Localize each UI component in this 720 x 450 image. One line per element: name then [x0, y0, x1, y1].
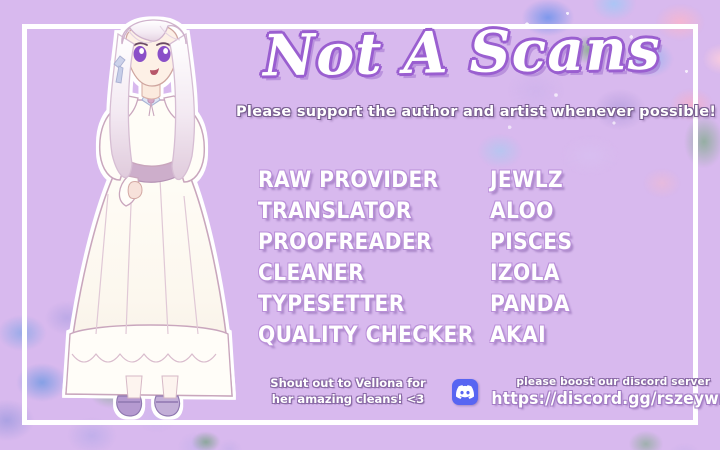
character-illustration [56, 4, 246, 434]
credit-role-label: Proofreader [258, 230, 471, 255]
credit-row: Raw Provider Jewlz [258, 168, 678, 199]
discord-text-block: please boost our discord server https://… [485, 376, 720, 408]
credit-row: Translator Aloo [258, 199, 678, 230]
discord-invite-block[interactable]: please boost our discord server https://… [452, 376, 692, 408]
credit-role-label: Raw Provider [258, 168, 471, 193]
credit-row: Quality Checker Akai [258, 323, 678, 354]
credit-name-value: Izola [490, 261, 656, 286]
credits-table: Raw Provider Jewlz Translator Aloo Proof… [258, 168, 678, 354]
credit-row: Cleaner Izola [258, 261, 678, 292]
discord-boost-label: please boost our discord server [485, 376, 720, 388]
credit-name-value: Jewlz [490, 168, 656, 193]
support-message: Please support the author and artist whe… [236, 104, 688, 120]
credit-name-value: Aloo [490, 199, 656, 224]
discord-invite-link[interactable]: https://discord.gg/rszeywm [491, 389, 720, 408]
scanlation-credit-page: Not A Scans Please support the author an… [0, 0, 720, 450]
credit-role-label: Translator [258, 199, 471, 224]
shoutout-message: Shout out to Vellona for her amazing cle… [258, 376, 438, 407]
page-title-container: Not A Scans [236, 12, 688, 92]
credit-name-value: Pisces [490, 230, 656, 255]
credit-name-value: Akai [490, 323, 656, 348]
shoutout-line-2: her amazing cleans! <3 [258, 392, 438, 408]
credit-row: Typesetter Panda [258, 292, 678, 323]
credit-role-label: Quality Checker [258, 323, 471, 348]
discord-logo-icon [452, 379, 478, 405]
shoutout-line-1: Shout out to Vellona for [258, 376, 438, 392]
page-title: Not A Scans [263, 20, 662, 84]
credit-role-label: Typesetter [258, 292, 471, 317]
credit-role-label: Cleaner [258, 261, 471, 286]
credit-row: Proofreader Pisces [258, 230, 678, 261]
credit-name-value: Panda [490, 292, 656, 317]
